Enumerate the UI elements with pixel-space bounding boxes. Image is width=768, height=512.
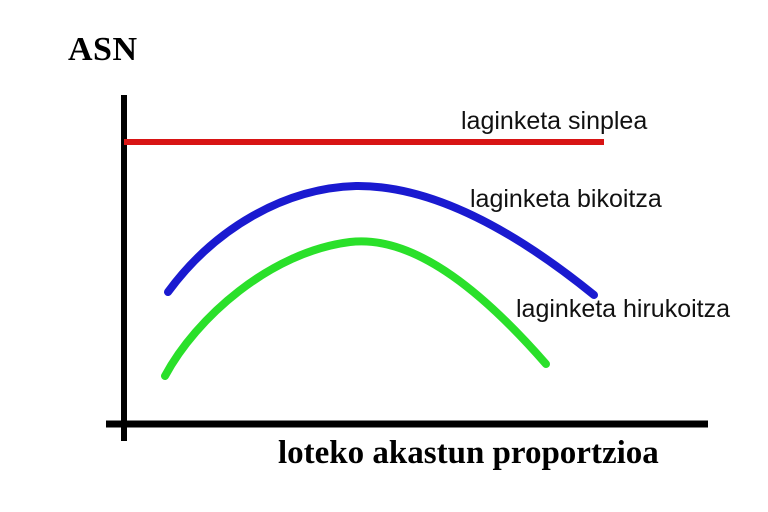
series-label-double: laginketa bikoitza — [470, 187, 662, 212]
y-axis-title: ASN — [68, 33, 138, 67]
series-label-simple: laginketa sinplea — [461, 109, 647, 134]
series-curve-triple — [165, 241, 546, 376]
asn-sampling-chart: ASN loteko akastun proportzioa laginketa… — [0, 0, 768, 512]
series-label-triple: laginketa hirukoitza — [516, 297, 730, 322]
x-axis-title: loteko akastun proportzioa — [278, 437, 659, 470]
